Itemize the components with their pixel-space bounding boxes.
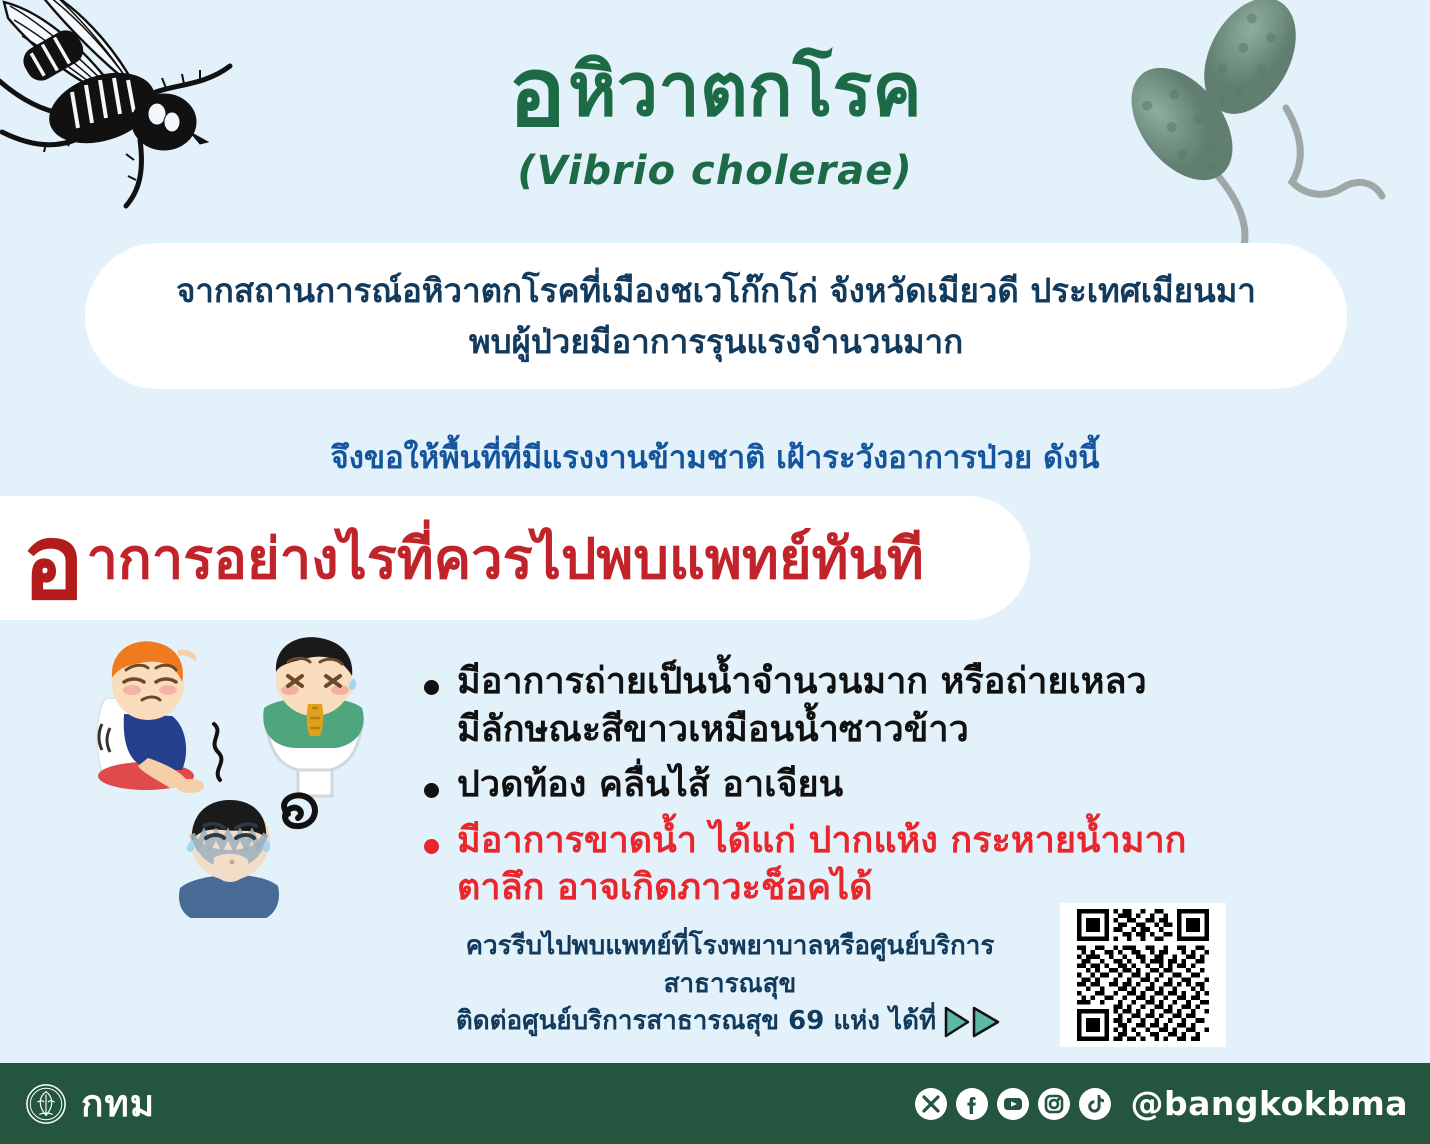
- sick-people-illustration: [86, 628, 386, 918]
- x-icon[interactable]: [914, 1087, 948, 1121]
- advice-line1: ควรรีบไปพบแพทย์ที่โรงพยาบาลหรือศูนย์บริก…: [400, 928, 1060, 1003]
- section-heading-text: าการอย่างไรที่ควรไปพบแพทย์ทันที: [86, 532, 923, 588]
- symptom-list: มีอาการถ่ายเป็นน้ำจำนวนมาก หรือถ่ายเหลว …: [424, 658, 1214, 920]
- advice-line2-row: ติดต่อศูนย์บริการสาธารณสุข 69 แห่ง ได้ที…: [400, 1003, 1060, 1041]
- list-item: มีอาการขาดน้ำ ได้แก่ ปากแห้ง กระหายน้ำมา…: [424, 817, 1214, 912]
- symptom-line: มีลักษณะสีขาวเหมือนน้ำซาวข้าว: [457, 709, 969, 750]
- bullet-dot-icon: [424, 680, 439, 695]
- bullet-dot-icon: [424, 783, 439, 798]
- infographic-poster: อหิวาตกโรค (Vibrio cholerae) จากสถานการณ…: [0, 0, 1430, 1144]
- situation-banner: จากสถานการณ์อหิวาตกโรคที่เมืองชเวโก๊กโก่…: [85, 243, 1347, 389]
- list-item: ปวดท้อง คลื่นไส้ อาเจียน: [424, 761, 1214, 809]
- bullet-dot-icon: [424, 839, 439, 854]
- youtube-icon[interactable]: [996, 1087, 1030, 1121]
- social-handle: @bangkokbma: [1131, 1084, 1408, 1123]
- section-heading: อ าการอย่างไรที่ควรไปพบแพทย์ทันที: [22, 510, 924, 610]
- social-links: @bangkokbma: [914, 1084, 1408, 1123]
- situation-banner-line1: จากสถานการณ์อหิวาตกโรคที่เมืองชเวโก๊กโก่…: [176, 265, 1256, 316]
- symptom-line: มีอาการถ่ายเป็นน้ำจำนวนมาก หรือถ่ายเหลว: [457, 661, 1147, 702]
- tiktok-icon[interactable]: [1078, 1087, 1112, 1121]
- page-title: อหิวาตกโรค (Vibrio cholerae): [0, 44, 1430, 194]
- title-subtitle: (Vibrio cholerae): [0, 148, 1430, 194]
- brand-label: กทม: [81, 1074, 155, 1133]
- advice-text: ควรรีบไปพบแพทย์ที่โรงพยาบาลหรือศูนย์บริก…: [400, 928, 1060, 1041]
- double-chevron-icon: [942, 1005, 1004, 1039]
- bma-seal-icon: [25, 1083, 67, 1125]
- qr-code-image: [1066, 909, 1220, 1041]
- qr-code[interactable]: [1060, 903, 1226, 1047]
- symptom-text: มีอาการขาดน้ำ ได้แก่ ปากแห้ง กระหายน้ำมา…: [457, 817, 1186, 912]
- symptom-text: ปวดท้อง คลื่นไส้ อาเจียน: [457, 761, 843, 809]
- section-heading-initial: อ: [22, 510, 84, 614]
- facebook-icon[interactable]: [955, 1087, 989, 1121]
- title-text: หิวาตกโรค: [568, 47, 922, 133]
- symptom-text: มีอาการถ่ายเป็นน้ำจำนวนมาก หรือถ่ายเหลว …: [457, 658, 1147, 753]
- title-initial-letter: อ: [508, 36, 566, 148]
- situation-banner-line2: พบผู้ป่วยมีอาการรุนแรงจำนวนมาก: [469, 316, 963, 367]
- advice-line2: ติดต่อศูนย์บริการสาธารณสุข 69 แห่ง ได้ที…: [456, 1003, 936, 1041]
- symptom-line: มีอาการขาดน้ำ ได้แก่ ปากแห้ง กระหายน้ำมา…: [457, 820, 1186, 861]
- brand-block: กทม: [25, 1074, 155, 1133]
- surveillance-note: จึงขอให้พื้นที่ที่มีแรงงานข้ามชาติ เฝ้าร…: [0, 432, 1430, 482]
- instagram-icon[interactable]: [1037, 1087, 1071, 1121]
- list-item: มีอาการถ่ายเป็นน้ำจำนวนมาก หรือถ่ายเหลว …: [424, 658, 1214, 753]
- title-row: อหิวาตกโรค: [0, 44, 1430, 140]
- footer-bar: กทม: [0, 1063, 1430, 1144]
- symptom-line: ตาลึก อาจเกิดภาวะช็อคได้: [457, 867, 873, 908]
